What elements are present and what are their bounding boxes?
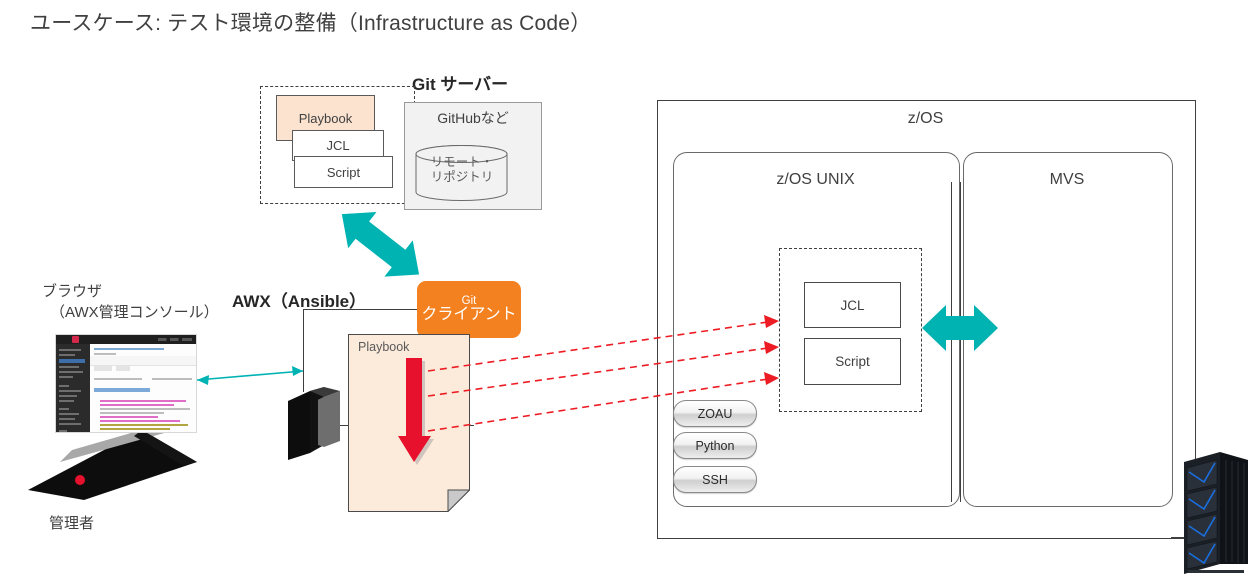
admin-role-label: 管理者 — [49, 512, 94, 533]
awx-console-screenshot — [55, 334, 197, 433]
zos-artifact-jcl: JCL — [804, 282, 901, 328]
unix-mvs-link-left — [951, 182, 952, 502]
zos-unix-label: z/OS UNIX — [673, 171, 958, 189]
github-label: GitHubなど — [418, 108, 528, 128]
mainframe-rack-icon — [1184, 452, 1248, 574]
mvs-label: MVS — [963, 171, 1171, 189]
git-server-heading: Git サーバー — [412, 70, 508, 95]
double-headed-arrow-icon — [328, 196, 434, 293]
zos-component-ssh: SSH — [673, 466, 757, 493]
mvs-container — [963, 152, 1173, 507]
zos-artifact-script: Script — [804, 338, 901, 385]
repo-label-line2: リポジトリ — [431, 170, 494, 184]
zos-component-python: Python — [673, 432, 757, 459]
zos-artifacts-group — [779, 248, 922, 412]
down-arrow-icon — [398, 358, 438, 470]
console-sidebar — [56, 344, 90, 432]
playbook-document-label: Playbook — [358, 340, 409, 354]
git-client-label-line2: クライアント — [421, 307, 516, 324]
git-client-box: Git クライアント — [417, 281, 521, 338]
browser-caption-line2: （AWX管理コンソール） — [42, 302, 219, 323]
remote-repository-label: リモート・ リポジトリ — [418, 155, 506, 185]
repo-label-line1: リモート・ — [431, 155, 494, 169]
page-title: ユースケース: テスト環境の整備（Infrastructure as Code） — [30, 7, 591, 37]
zos-component-zoau: ZOAU — [673, 400, 757, 427]
git-card-script: Script — [294, 156, 393, 188]
server-tower-icon — [288, 387, 340, 460]
console-toolbar — [90, 356, 196, 366]
console-logo-icon — [72, 336, 79, 343]
awx-connector-left — [303, 309, 304, 392]
zos-label: z/OS — [657, 110, 1194, 128]
browser-caption-line1: ブラウザ — [42, 283, 102, 300]
unix-mvs-link-right — [960, 182, 961, 502]
browser-caption: ブラウザ （AWX管理コンソール） — [42, 281, 219, 323]
console-topbar-actions — [158, 338, 192, 341]
